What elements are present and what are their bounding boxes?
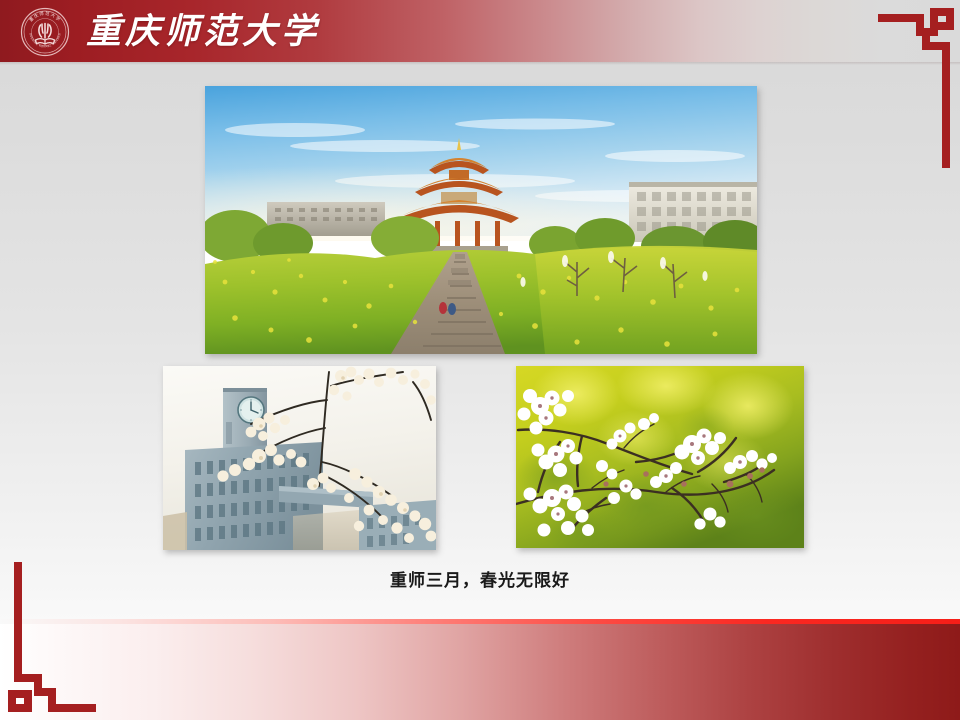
chinese-corner-ornament-top-right [878,0,960,168]
slide-caption: 重师三月，春光无限好 [0,566,960,591]
header-shadow [0,62,960,65]
presentation-slide: 重庆师范大学 CHONGQING NORMAL UNIVERSITY 重庆师范大… [0,0,960,720]
photo-plum-blossom-branch [516,366,804,548]
university-emblem-icon: 重庆师范大学 CHONGQING NORMAL UNIVERSITY [20,7,70,57]
page-title: 重庆师范大学 [86,7,320,57]
bottom-gradient-band [0,624,960,720]
photo-clock-tower-blossoms [163,366,436,550]
photo-pagoda-hill-panorama [205,86,757,354]
